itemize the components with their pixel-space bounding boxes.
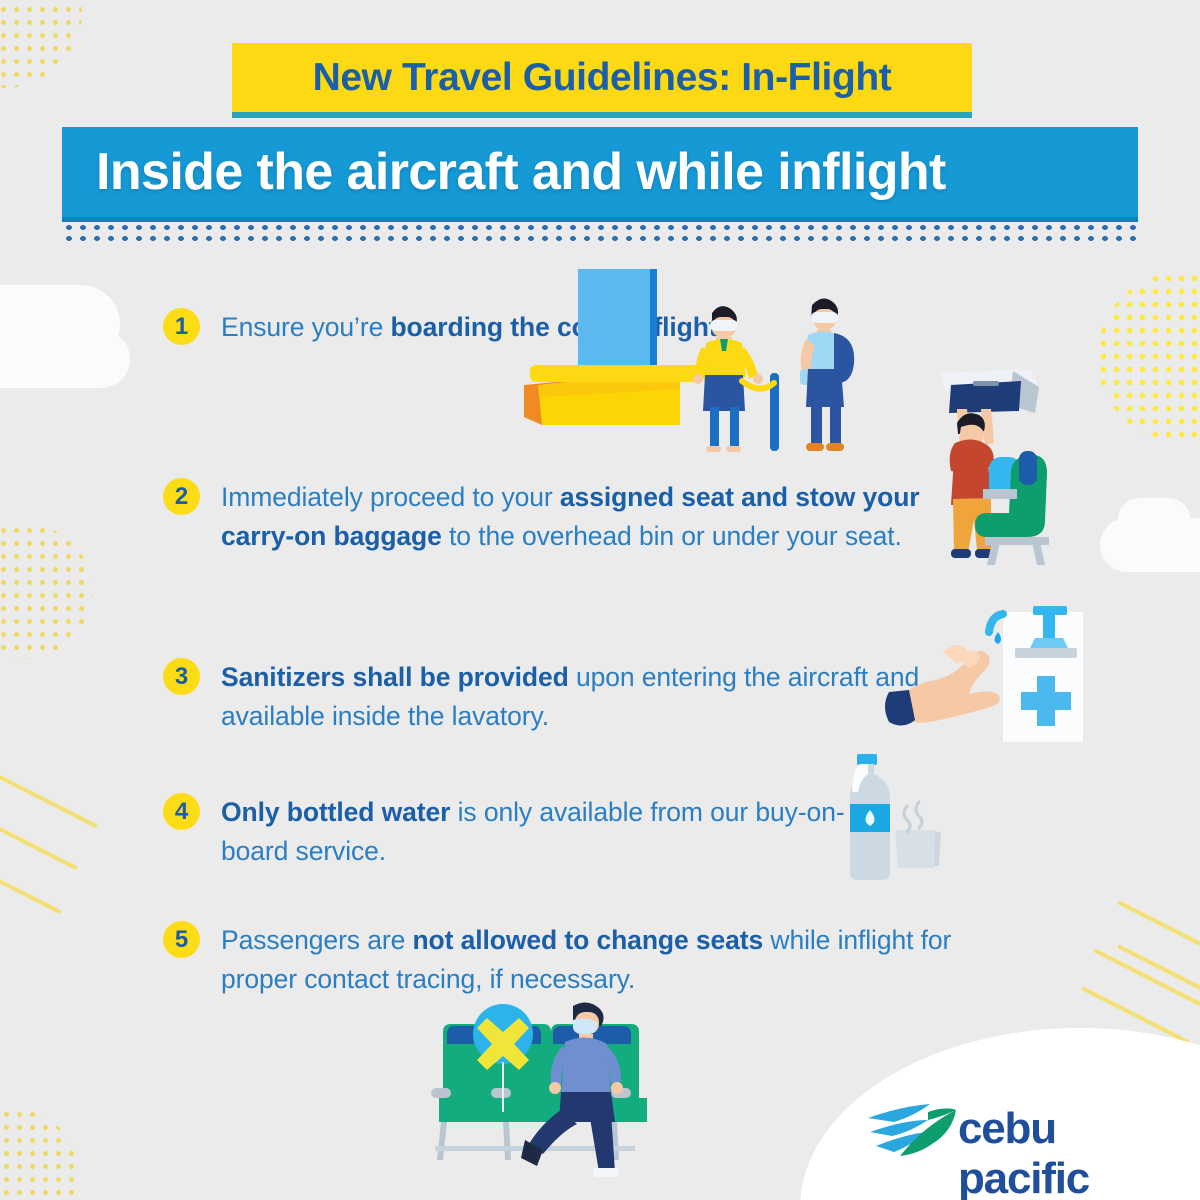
guideline-text: Immediately proceed to your assigned sea…: [221, 478, 963, 556]
dot-circle-decor-top-left: [0, 0, 82, 88]
guideline-text: Sanitizers shall be provided upon enteri…: [221, 658, 923, 736]
guideline-text: Only bottled water is only available fro…: [221, 793, 883, 871]
hand-sanitizer-illustration: [885, 600, 1085, 750]
diagonal-line-decor-right-1: [1117, 900, 1200, 954]
no-seat-change-illustration: [425, 1000, 675, 1180]
staff-figure: [693, 306, 763, 452]
diagonal-line-decor-right-3: [1117, 944, 1200, 998]
cebu-pacific-logo: cebu pacific: [866, 1098, 1172, 1170]
boarding-counter-illustration: [520, 265, 860, 455]
eyebrow-banner: New Travel Guidelines: In-Flight: [232, 43, 972, 112]
bottled-water-illustration: [833, 752, 973, 882]
cebu-pacific-bird-icon: [866, 1098, 966, 1162]
page-title: Inside the aircraft and while inflight: [96, 142, 946, 202]
cloud-decor-left-lower: [0, 330, 130, 388]
diagonal-line-decor-left-2: [0, 812, 78, 870]
eyebrow-text: New Travel Guidelines: In-Flight: [313, 56, 892, 100]
dot-circle-decor-top-right: [1097, 272, 1200, 442]
diagonal-line-decor-left-1: [0, 770, 98, 828]
cebu-pacific-wordmark: cebu pacific: [958, 1104, 1172, 1200]
step-number-badge: 2: [163, 478, 200, 515]
step-number-badge: 4: [163, 793, 200, 830]
cloud-decor-left-upper: [0, 285, 120, 363]
list-item: 4 Only bottled water is only available f…: [163, 793, 883, 871]
guideline-text: Passengers are not allowed to change sea…: [221, 921, 993, 999]
infographic-poster: New Travel Guidelines: In-Flight Inside …: [0, 0, 1200, 1200]
step-number-badge: 1: [163, 308, 200, 345]
list-item: 2 Immediately proceed to your assigned s…: [163, 478, 963, 556]
overhead-bin-illustration: [935, 365, 1085, 590]
dotted-divider-strip: [62, 222, 1138, 242]
cloud-decor-right: [1100, 518, 1200, 572]
step-number-badge: 5: [163, 921, 200, 958]
dot-circle-decor-bottom-left: [0, 1108, 78, 1200]
passenger-figure: [800, 298, 854, 451]
eyebrow-underline-rule: [232, 112, 972, 118]
step-number-badge: 3: [163, 658, 200, 695]
diagonal-line-decor-right-4: [1081, 986, 1190, 1044]
list-item: 3 Sanitizers shall be provided upon ente…: [163, 658, 923, 736]
title-banner: Inside the aircraft and while inflight: [62, 127, 1138, 217]
cloud-decor-right-small: [1118, 498, 1190, 540]
diagonal-line-decor-right-2: [1093, 948, 1200, 1006]
diagonal-line-decor-left-3: [0, 856, 62, 914]
dot-circle-decor-left: [0, 524, 93, 659]
list-item: 5 Passengers are not allowed to change s…: [163, 921, 993, 999]
